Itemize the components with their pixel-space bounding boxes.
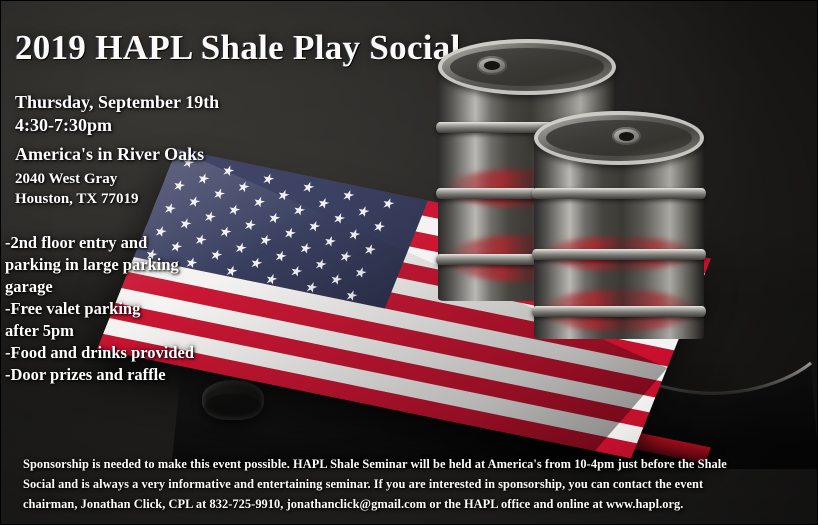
detail-line: -2nd floor entry and	[5, 232, 194, 254]
venue-city: Houston, TX 77019	[15, 190, 204, 210]
detail-line: -Free valet parking	[5, 298, 194, 320]
page-title: 2019 HAPL Shale Play Social	[15, 28, 461, 68]
oil-barrel-right	[534, 111, 704, 339]
detail-line: garage	[5, 276, 194, 298]
barrel-lid-right	[534, 111, 704, 165]
detail-line: -Food and drinks provided	[5, 342, 194, 364]
event-time: 4:30-7:30pm	[15, 114, 219, 137]
event-venue-block: America's in River Oaks 2040 West Gray H…	[15, 143, 204, 210]
footer-line-3: chairman, Jonathan Click, CPL at 832-725…	[23, 494, 797, 514]
venue-name: America's in River Oaks	[15, 143, 204, 166]
detail-line: after 5pm	[5, 320, 194, 342]
barrel-lid-left	[438, 39, 616, 95]
bung-hole-left	[477, 56, 507, 75]
event-date: Thursday, September 19th	[15, 91, 219, 114]
event-datetime: Thursday, September 19th 4:30-7:30pm	[15, 91, 219, 137]
detail-line: parking in large parking	[5, 254, 194, 276]
footer-line-2: Social and is always a very informative …	[23, 474, 797, 494]
venue-street: 2040 West Gray	[15, 170, 204, 190]
footer-line-1: Sponsorship is needed to make this event…	[23, 454, 797, 474]
poster-canvas: 2019 HAPL Shale Play Social Thursday, Se…	[0, 0, 818, 525]
event-details-list: -2nd floor entry and parking in large pa…	[5, 232, 194, 386]
detail-line: -Door prizes and raffle	[5, 364, 194, 386]
sponsorship-footer: Sponsorship is needed to make this event…	[1, 454, 817, 514]
